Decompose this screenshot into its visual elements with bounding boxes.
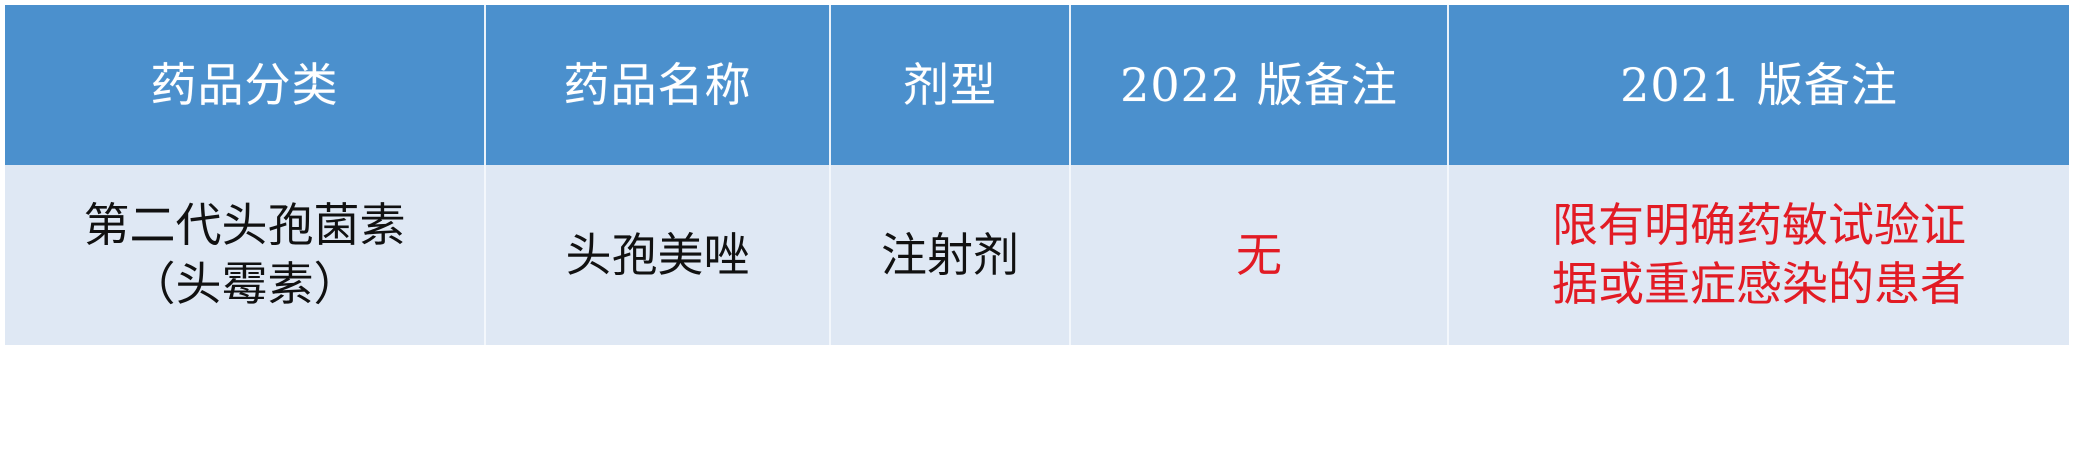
- drug-category-line-1: 第二代头孢菌素: [11, 196, 478, 255]
- table-header-row: 药品分类 药品名称 剂型 2022 版备注 2021 版备注: [5, 5, 2069, 165]
- table-body: 第二代头孢菌素 （头霉素） 头孢美唑 注射剂 无 限有明确药敏试验证 据或重症感…: [5, 165, 2069, 345]
- cell-note-2021: 限有明确药敏试验证 据或重症感染的患者: [1448, 165, 2069, 345]
- cell-drug-name: 头孢美唑: [485, 165, 830, 345]
- column-header-note-2022: 2022 版备注: [1070, 5, 1448, 165]
- column-header-drug-category: 药品分类: [5, 5, 485, 165]
- table-header: 药品分类 药品名称 剂型 2022 版备注 2021 版备注: [5, 5, 2069, 165]
- cell-drug-category: 第二代头孢菌素 （头霉素）: [5, 165, 485, 345]
- column-header-dosage-form: 剂型: [830, 5, 1070, 165]
- note-2021-line-2: 据或重症感染的患者: [1455, 255, 2063, 314]
- cell-note-2022: 无: [1070, 165, 1448, 345]
- drug-category-line-2: （头霉素）: [11, 255, 478, 314]
- drug-comparison-table: 药品分类 药品名称 剂型 2022 版备注 2021 版备注 第二代头孢菌素 （…: [5, 5, 2069, 345]
- column-header-note-2021: 2021 版备注: [1448, 5, 2069, 165]
- note-2021-line-1: 限有明确药敏试验证: [1455, 196, 2063, 255]
- drug-comparison-table-wrapper: 药品分类 药品名称 剂型 2022 版备注 2021 版备注 第二代头孢菌素 （…: [5, 5, 2069, 345]
- table-row: 第二代头孢菌素 （头霉素） 头孢美唑 注射剂 无 限有明确药敏试验证 据或重症感…: [5, 165, 2069, 345]
- cell-dosage-form: 注射剂: [830, 165, 1070, 345]
- column-header-drug-name: 药品名称: [485, 5, 830, 165]
